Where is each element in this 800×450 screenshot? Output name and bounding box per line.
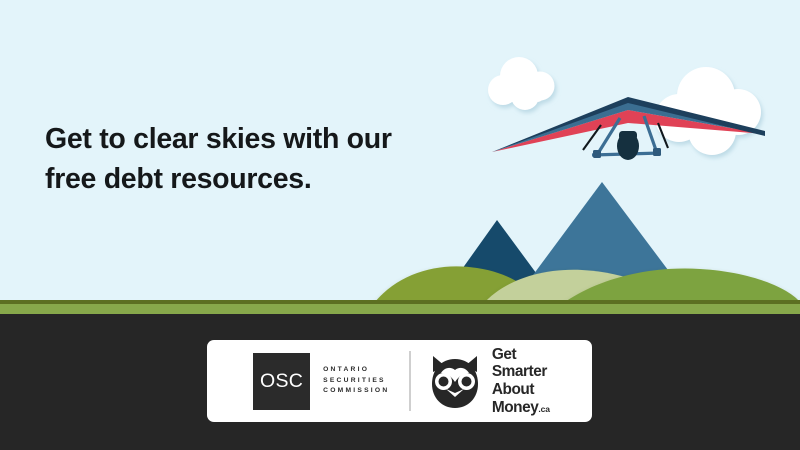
gsam-line-get: Get — [492, 346, 550, 364]
osc-wordmark: ONTARIO SECURITIES COMMISSION — [323, 367, 389, 394]
owl-icon — [429, 352, 481, 410]
osc-word-commission: COMMISSION — [323, 388, 389, 395]
getsmarteraboutmoney-logo[interactable]: Get Smarter About Money.ca — [429, 346, 550, 417]
headline: Get to clear skies with our free debt re… — [45, 119, 435, 200]
headline-line-1: Get to clear skies with our — [45, 119, 435, 159]
headline-line-2: free debt resources. — [45, 159, 435, 199]
banner-stage: Get to clear skies with our free debt re… — [0, 0, 800, 450]
ground-line — [0, 300, 800, 305]
gsam-line-about: About — [492, 381, 550, 399]
gsam-line-smarter: Smarter — [492, 363, 550, 381]
osc-logo[interactable]: OSC ONTARIO SECURITIES COMMISSION — [253, 353, 389, 410]
osc-monogram-text: OSC — [260, 370, 303, 393]
osc-word-securities: SECURITIES — [323, 378, 389, 385]
gsam-money-text: Money — [492, 399, 539, 416]
gsam-money-suffix: .ca — [538, 404, 550, 414]
gsam-line-money: Money.ca — [492, 399, 550, 417]
logo-divider — [409, 351, 410, 411]
cloud-left — [488, 57, 555, 110]
ground-strip — [0, 304, 800, 314]
osc-monogram: OSC — [253, 353, 310, 410]
logo-card: OSC ONTARIO SECURITIES COMMISSION — [207, 340, 592, 422]
osc-word-ontario: ONTARIO — [323, 367, 389, 374]
gsam-wordmark: Get Smarter About Money.ca — [492, 346, 550, 417]
